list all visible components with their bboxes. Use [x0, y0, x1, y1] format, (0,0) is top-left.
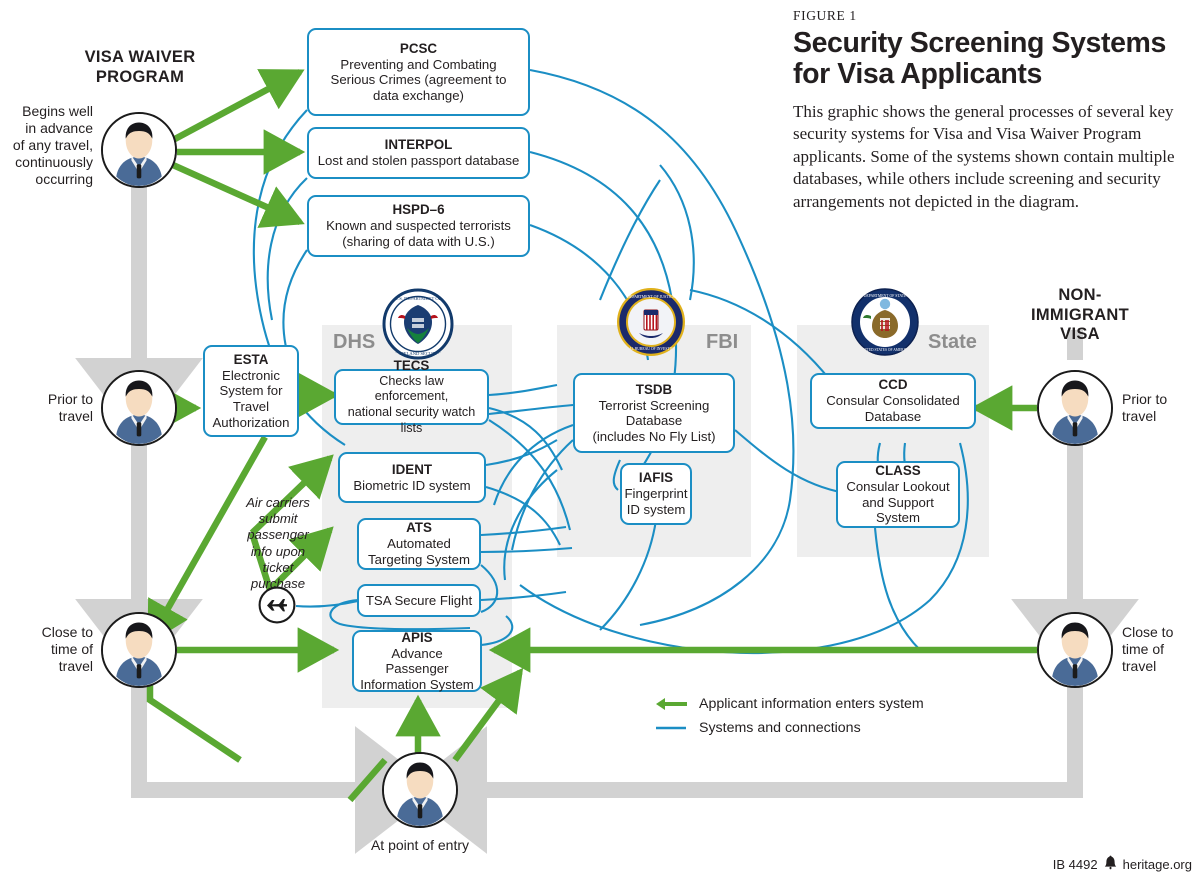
- svg-text:U.S. DEPARTMENT OF: U.S. DEPARTMENT OF: [395, 296, 442, 301]
- note-air-carriers: Air carriers submit passenger info upon …: [232, 495, 324, 592]
- node-esta[interactable]: ESTA Electronic System for Travel Author…: [203, 345, 299, 437]
- node-interpol-sub: Lost and stolen passport database: [318, 153, 520, 169]
- description-text: This graphic shows the general processes…: [793, 101, 1193, 213]
- node-iafis-sub: Fingerprint ID system: [624, 486, 687, 517]
- node-ats-title: ATS: [406, 520, 432, 536]
- figure-label: FIGURE 1: [793, 8, 1193, 24]
- node-ccd[interactable]: CCD Consular Consolidated Database: [810, 373, 976, 429]
- node-ats-sub: Automated Targeting System: [368, 536, 470, 567]
- infographic-canvas: DHS FBI State: [0, 0, 1200, 881]
- node-ccd-title: CCD: [878, 377, 907, 393]
- stage-label-point-of-entry: At point of entry: [330, 837, 510, 854]
- node-apis-title: APIS: [401, 630, 432, 646]
- stage-label-niv-1: Prior to travel: [1122, 391, 1200, 425]
- node-apis-sub: Advance Passenger Information System: [360, 646, 474, 693]
- node-esta-sub: Electronic System for Travel Authorizati…: [213, 368, 290, 430]
- blue-line-icon: [655, 721, 687, 735]
- node-tecs-title: TECS: [394, 358, 430, 374]
- node-interpol-title: INTERPOL: [385, 137, 453, 153]
- node-tecs-sub: Checks law enforcement, national securit…: [342, 374, 481, 436]
- stage-label-niv-2: Close to time of travel: [1122, 624, 1200, 675]
- node-pcsc-title: PCSC: [400, 41, 437, 57]
- footer: IB 4492 heritage.org: [1053, 855, 1192, 873]
- title-line-2: for Visa Applicants: [793, 58, 1042, 90]
- track-title-niv: NON-IMMIGRANTVISA: [1000, 286, 1160, 345]
- node-ccd-sub: Consular Consolidated Database: [826, 393, 959, 424]
- node-esta-title: ESTA: [234, 352, 269, 368]
- node-tsdb-title: TSDB: [636, 382, 672, 398]
- fbi-seal: DEPARTMENT OF JUSTICE FEDERAL BUREAU OF …: [617, 288, 685, 356]
- node-pcsc-sub: Preventing and Combating Serious Crimes …: [331, 57, 507, 104]
- avatar-niv-stage1: [1037, 370, 1113, 446]
- header: FIGURE 1 Security Screening Systems for …: [793, 8, 1193, 213]
- avatar-niv-stage2: [1037, 612, 1113, 688]
- node-ident-sub: Biometric ID system: [353, 478, 470, 494]
- node-class[interactable]: CLASS Consular Lookout and Support Syste…: [836, 461, 960, 528]
- node-pcsc[interactable]: PCSC Preventing and Combating Serious Cr…: [307, 28, 530, 116]
- node-hspd6[interactable]: HSPD–6 Known and suspected terrorists (s…: [307, 195, 530, 257]
- legend-label-connections: Systems and connections: [699, 720, 861, 736]
- title-line-1: Security Screening Systems: [793, 27, 1166, 59]
- legend-item-connections: Systems and connections: [655, 716, 924, 740]
- dhs-seal: U.S. DEPARTMENT OF HOMELAND SECURITY: [382, 288, 454, 360]
- node-apis[interactable]: APIS Advance Passenger Information Syste…: [352, 630, 482, 692]
- stage-label-vwp-1: Begins well in advance of any travel, co…: [0, 103, 93, 188]
- page-title: Security Screening Systems for Visa Appl…: [793, 28, 1193, 90]
- node-interpol[interactable]: INTERPOL Lost and stolen passport databa…: [307, 127, 530, 179]
- node-ident[interactable]: IDENT Biometric ID system: [338, 452, 486, 503]
- avatar-vwp-stage3: [101, 612, 177, 688]
- node-hspd6-sub: Known and suspected terrorists (sharing …: [326, 218, 511, 249]
- legend-item-applicant-flow: Applicant information enters system: [655, 692, 924, 716]
- node-tsdb[interactable]: TSDB Terrorist Screening Database (inclu…: [573, 373, 735, 453]
- liberty-bell-icon: [1104, 855, 1117, 873]
- state-seal: DEPARTMENT OF STATE UNITED STATES OF AME…: [851, 288, 919, 356]
- node-class-sub: Consular Lookout and Support System: [844, 479, 952, 526]
- track-title-vwp: VISA WAIVERPROGRAM: [52, 48, 228, 87]
- footer-doc-id: IB 4492: [1053, 857, 1098, 872]
- node-tsa-secure-flight[interactable]: TSA Secure Flight: [357, 584, 481, 617]
- node-ident-title: IDENT: [392, 462, 432, 478]
- avatar-point-of-entry: [382, 752, 458, 828]
- node-tsa-secure-flight-sub: TSA Secure Flight: [366, 593, 472, 609]
- node-hspd6-title: HSPD–6: [392, 202, 444, 218]
- node-iafis[interactable]: IAFIS Fingerprint ID system: [620, 463, 692, 525]
- footer-site: heritage.org: [1123, 857, 1192, 872]
- svg-text:DEPARTMENT OF JUSTICE: DEPARTMENT OF JUSTICE: [627, 295, 675, 299]
- stage-label-vwp-2: Prior to travel: [0, 391, 93, 425]
- avatar-vwp-stage2: [101, 370, 177, 446]
- node-ats[interactable]: ATS Automated Targeting System: [357, 518, 481, 570]
- node-iafis-title: IAFIS: [639, 470, 673, 486]
- legend-label-applicant-flow: Applicant information enters system: [699, 696, 924, 712]
- legend: Applicant information enters system Syst…: [655, 692, 924, 740]
- green-arrow-icon: [655, 697, 687, 711]
- node-tecs[interactable]: TECS Checks law enforcement, national se…: [334, 369, 489, 425]
- svg-text:DEPARTMENT OF STATE: DEPARTMENT OF STATE: [864, 294, 907, 298]
- node-class-title: CLASS: [875, 463, 920, 479]
- node-tsdb-sub: Terrorist Screening Database (includes N…: [592, 398, 715, 445]
- avatar-vwp-stage1: [101, 112, 177, 188]
- stage-label-vwp-3: Close to time of travel: [0, 624, 93, 675]
